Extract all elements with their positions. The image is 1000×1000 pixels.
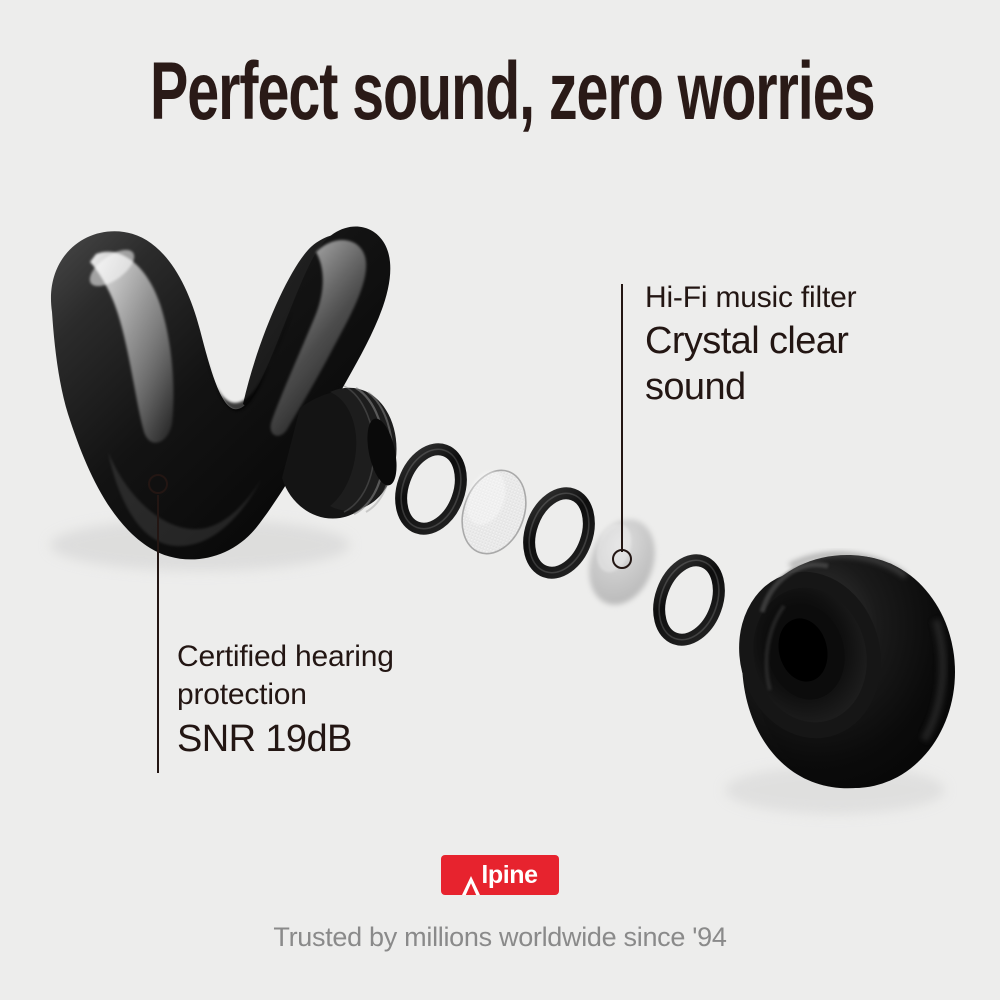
mesh-disc <box>451 461 537 562</box>
callout-hearing-protection: Certified hearing protection SNR 19dB <box>177 638 507 762</box>
callout-hifi-filter: Hi-Fi music filter Crystal clear sound <box>645 278 945 410</box>
callout-left-headline: SNR 19dB <box>177 716 507 762</box>
filter-disc-marker-icon <box>612 549 632 569</box>
brand-logo-badge: lpine <box>441 855 559 895</box>
earplug-body <box>50 227 402 571</box>
leader-line-right <box>621 284 623 552</box>
leader-line-left <box>157 495 159 773</box>
brand-wordmark: lpine <box>441 855 559 895</box>
exploded-earplug-diagram <box>0 0 1000 1000</box>
o-ring-3 <box>649 552 730 648</box>
earplug-body-marker-icon <box>148 474 168 494</box>
ear-tip <box>722 555 955 814</box>
o-ring-2 <box>519 485 600 581</box>
product-marketing-image: Perfect sound, zero worries <box>0 0 1000 1000</box>
o-ring-1 <box>391 441 472 537</box>
callout-right-eyebrow: Hi-Fi music filter <box>645 278 945 318</box>
footer-tagline: Trusted by millions worldwide since '94 <box>0 920 1000 954</box>
alpine-peak-icon <box>462 867 480 886</box>
page-title: Perfect sound, zero worries <box>150 46 850 138</box>
callout-right-headline: Crystal clear sound <box>645 318 945 410</box>
callout-left-eyebrow: Certified hearing protection <box>177 638 507 714</box>
brand-name: lpine <box>481 855 537 895</box>
